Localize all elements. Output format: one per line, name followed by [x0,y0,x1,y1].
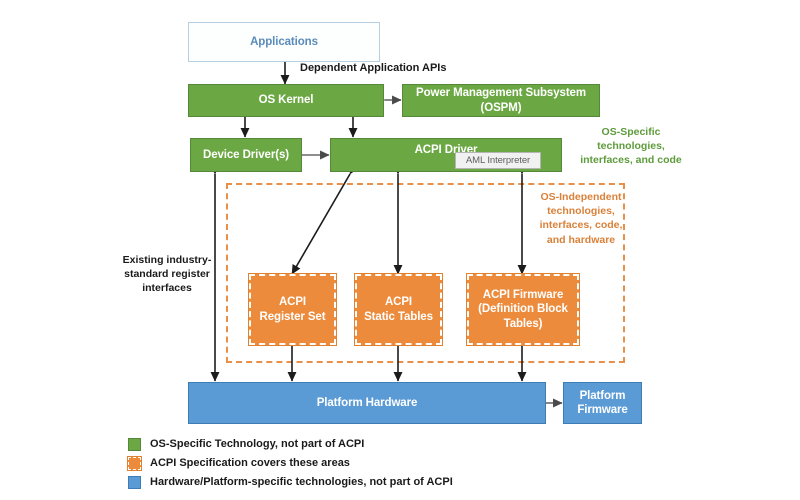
acpi-register-set-line2: Register Set [260,310,326,324]
legend-item-label: ACPI Specification covers these areas [150,457,350,469]
acpi-static-tables-block: ACPI Static Tables [355,274,442,345]
blue-swatch-icon [128,476,141,489]
applications-label: Applications [250,35,318,49]
legend-item: ACPI Specification covers these areas [128,456,453,470]
ospm-block: Power Management Subsystem (OSPM) [402,84,600,117]
platform-firmware-line2: Firmware [577,403,627,417]
os-independent-annotation-line4: and hardware [516,233,646,247]
device-drivers-label: Device Driver(s) [203,148,289,162]
ospm-label-line2: (OSPM) [481,101,522,115]
legend: OS-Specific Technology, not part of ACPI… [128,437,453,489]
acpi-static-tables-line2: Static Tables [364,310,433,324]
os-kernel-label: OS Kernel [259,93,314,107]
acpi-firmware-line1: ACPI Firmware [483,288,564,302]
legend-item: Hardware/Platform-specific technologies,… [128,475,453,489]
ospm-label-line1: Power Management Subsystem [416,86,586,100]
platform-hardware-label: Platform Hardware [317,396,418,410]
existing-interfaces-annotation: Existing industry- standard register int… [108,253,226,296]
device-drivers-block: Device Driver(s) [190,138,302,172]
dependent-application-apis-label: Dependent Application APIs [300,62,446,74]
acpi-static-tables-line1: ACPI [385,295,412,309]
legend-item-label: OS-Specific Technology, not part of ACPI [150,438,364,450]
os-independent-annotation-line3: interfaces, code, [516,218,646,232]
os-independent-annotation: OS-Independent technologies, interfaces,… [516,190,646,247]
existing-interfaces-line1: Existing industry- [108,253,226,267]
green-swatch-icon [128,438,141,451]
platform-firmware-line1: Platform [580,389,626,403]
os-independent-annotation-line1: OS-Independent [516,190,646,204]
aml-interpreter-block: AML Interpreter [455,152,541,169]
acpi-firmware-line3: Tables) [504,317,543,331]
os-specific-annotation-line2: technologies, [556,139,706,153]
legend-item-label: Hardware/Platform-specific technologies,… [150,476,453,488]
acpi-firmware-line2: (Definition Block [478,302,568,316]
acpi-architecture-diagram: Applications Dependent Application APIs … [0,0,800,500]
legend-item: OS-Specific Technology, not part of ACPI [128,437,453,451]
os-kernel-block: OS Kernel [188,84,384,117]
acpi-register-set-line1: ACPI [279,295,306,309]
platform-hardware-block: Platform Hardware [188,382,546,424]
orange-swatch-icon [128,457,141,470]
acpi-register-set-block: ACPI Register Set [249,274,336,345]
acpi-firmware-block: ACPI Firmware (Definition Block Tables) [467,274,579,345]
applications-block: Applications [188,22,380,62]
existing-interfaces-line3: interfaces [108,281,226,295]
os-specific-annotation-line1: OS-Specific [556,125,706,139]
os-specific-annotation: OS-Specific technologies, interfaces, an… [556,125,706,168]
os-specific-annotation-line3: interfaces, and code [556,153,706,167]
platform-firmware-block: Platform Firmware [563,382,642,424]
aml-interpreter-label: AML Interpreter [466,155,530,167]
existing-interfaces-line2: standard register [108,267,226,281]
os-independent-annotation-line2: technologies, [516,204,646,218]
